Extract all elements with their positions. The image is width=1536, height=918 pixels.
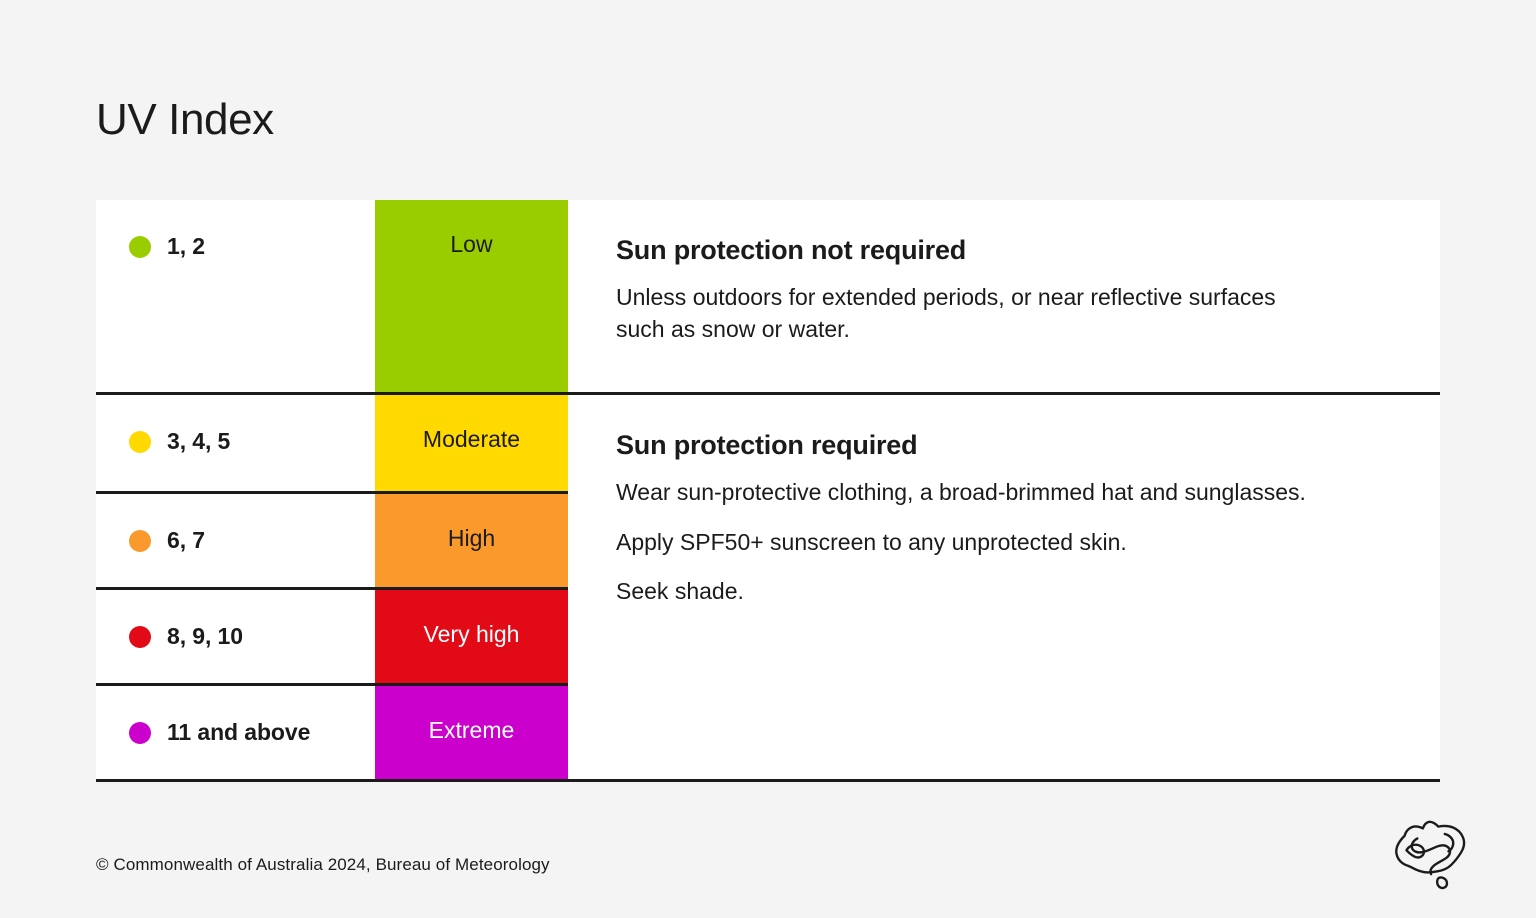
table-row: 6, 7 High <box>96 491 568 587</box>
uv-index-cell: 3, 4, 5 <box>96 395 375 491</box>
uv-color-dot-low <box>129 236 151 258</box>
uv-section-required: 3, 4, 5 Moderate 6, 7 High <box>96 392 1440 779</box>
uv-index-cell: 1, 2 <box>96 200 375 392</box>
uv-category-label: Low <box>450 232 492 257</box>
uv-category-label: Moderate <box>423 427 520 452</box>
uv-category-label: Extreme <box>429 718 515 743</box>
uv-rows-group: 3, 4, 5 Moderate 6, 7 High <box>96 395 568 779</box>
uv-color-dot-very-high <box>129 626 151 648</box>
advice-paragraph: Seek shade. <box>616 576 1316 607</box>
uv-index-label: 11 and above <box>167 720 310 745</box>
table-row: 3, 4, 5 Moderate <box>96 395 568 491</box>
uv-index-label: 1, 2 <box>167 234 205 259</box>
uv-index-cell: 6, 7 <box>96 494 375 587</box>
uv-category-swatch-extreme: Extreme <box>375 686 568 779</box>
copyright-text: © Commonwealth of Australia 2024, Bureau… <box>96 855 550 875</box>
uv-color-dot-extreme <box>129 722 151 744</box>
uv-index-cell: 11 and above <box>96 686 375 779</box>
table-row: 1, 2 Low <box>96 200 568 392</box>
advice-paragraph: Wear sun-protective clothing, a broad-br… <box>616 477 1316 508</box>
uv-index-cell: 8, 9, 10 <box>96 590 375 683</box>
uv-index-label: 6, 7 <box>167 528 205 553</box>
table-row: 11 and above Extreme <box>96 683 568 779</box>
uv-category-swatch-moderate: Moderate <box>375 395 568 491</box>
advice-heading: Sun protection required <box>616 429 1400 461</box>
advice-paragraph: Unless outdoors for extended periods, or… <box>616 282 1316 345</box>
table-row: 8, 9, 10 Very high <box>96 587 568 683</box>
advice-paragraph: Apply SPF50+ sunscreen to any unprotecte… <box>616 527 1316 558</box>
uv-rows-group: 1, 2 Low <box>96 200 568 392</box>
uv-color-dot-high <box>129 530 151 552</box>
uv-index-infographic: UV Index 1, 2 Low Sun protection not req… <box>0 0 1536 918</box>
uv-category-swatch-high: High <box>375 494 568 587</box>
uv-index-label: 3, 4, 5 <box>167 429 230 454</box>
advice-heading: Sun protection not required <box>616 234 1400 266</box>
uv-category-swatch-low: Low <box>375 200 568 392</box>
uv-color-dot-moderate <box>129 431 151 453</box>
uv-category-swatch-very-high: Very high <box>375 590 568 683</box>
uv-category-label: High <box>448 526 495 551</box>
uv-index-table: 1, 2 Low Sun protection not required Unl… <box>96 200 1440 782</box>
uv-advice-not-required: Sun protection not required Unless outdo… <box>568 200 1440 392</box>
uv-advice-required: Sun protection required Wear sun-protect… <box>568 395 1440 779</box>
uv-category-label: Very high <box>424 622 520 647</box>
page-title: UV Index <box>96 96 274 144</box>
uv-index-label: 8, 9, 10 <box>167 624 243 649</box>
bureau-of-meteorology-logo-icon <box>1386 812 1478 896</box>
uv-section-not-required: 1, 2 Low Sun protection not required Unl… <box>96 200 1440 392</box>
